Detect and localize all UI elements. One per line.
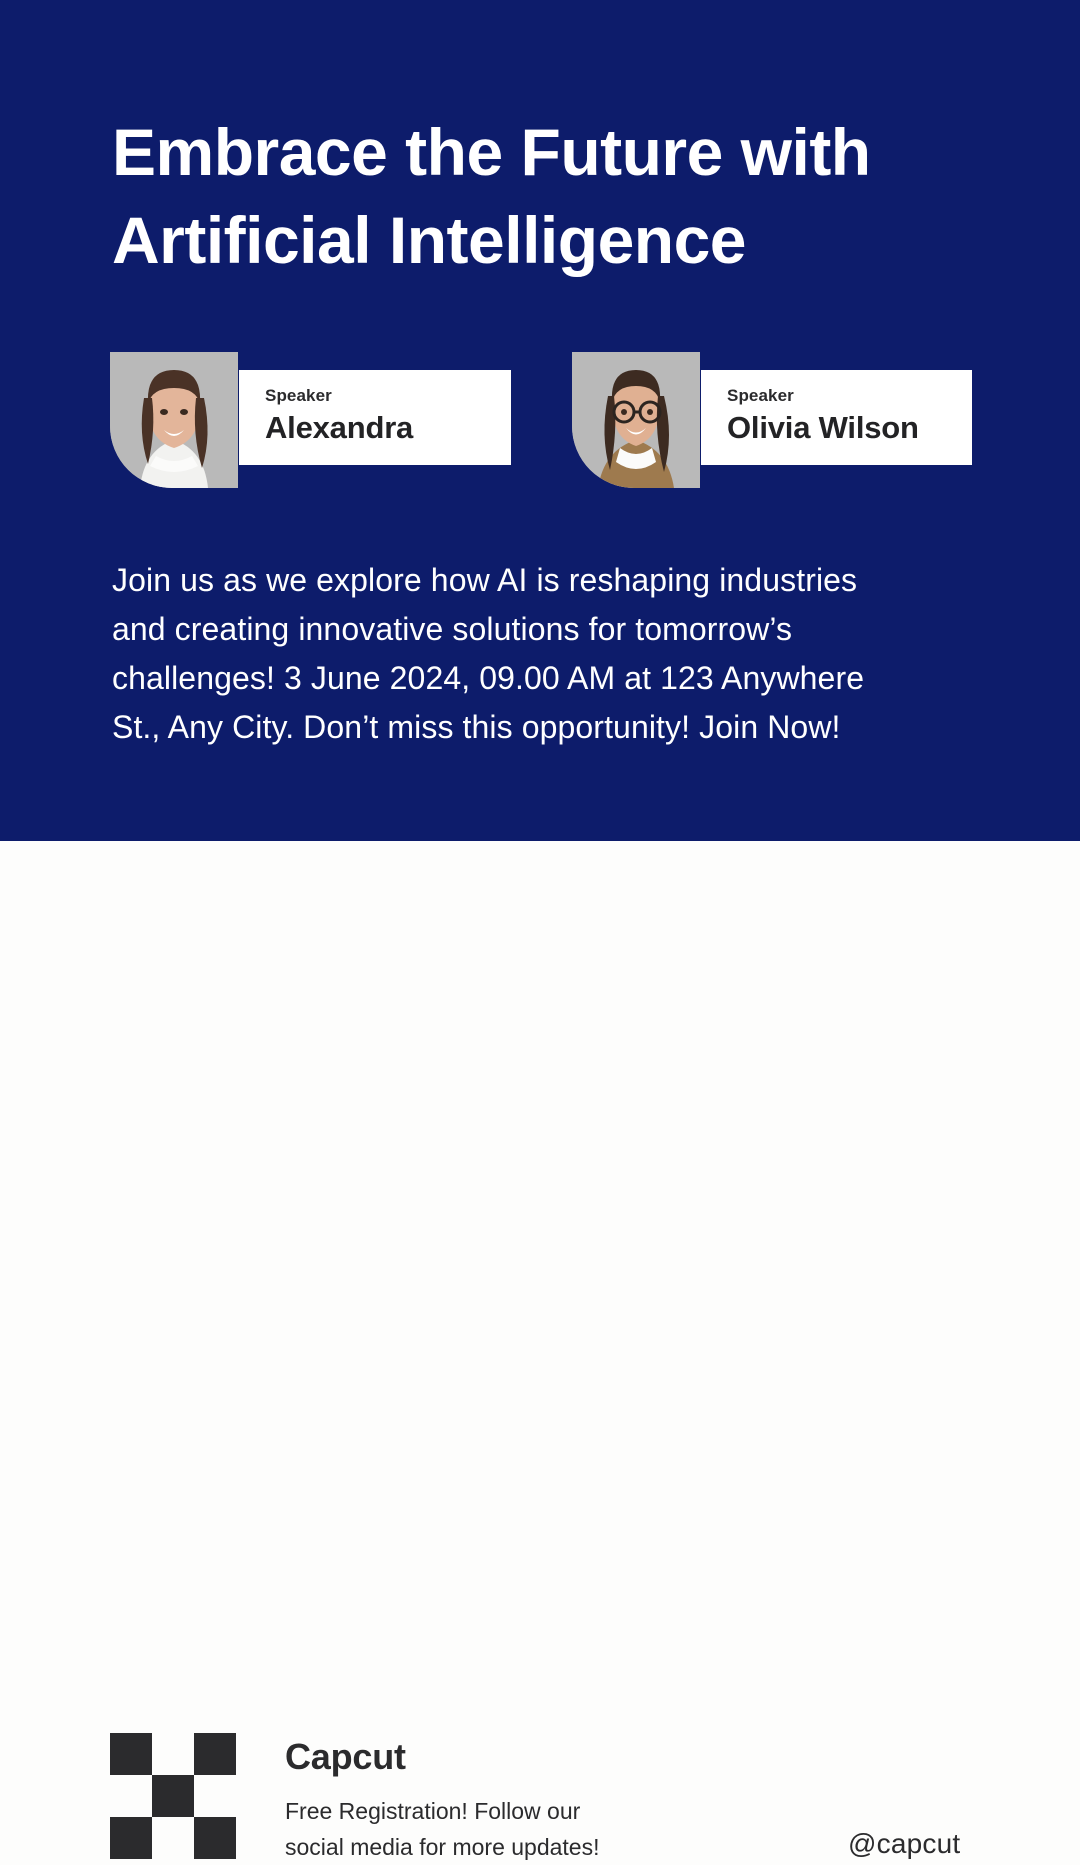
- logo-cell: [194, 1775, 236, 1817]
- logo-cell: [152, 1775, 194, 1817]
- speaker-name: Alexandra: [265, 408, 511, 448]
- footer-panel: Capcut Free Registration! Follow our soc…: [0, 841, 1080, 1080]
- speaker-namecard: Speaker Olivia Wilson: [701, 370, 972, 465]
- speaker-role-label: Speaker: [727, 386, 972, 406]
- checkerboard-logo-icon: [110, 1733, 236, 1859]
- avatar: [572, 352, 700, 488]
- event-poster: Embrace the Future with Artificial Intel…: [0, 0, 1080, 1080]
- speaker-namecard: Speaker Alexandra: [239, 370, 511, 465]
- speaker-name: Olivia Wilson: [727, 408, 972, 448]
- logo-cell: [194, 1733, 236, 1775]
- social-handle: @capcut: [848, 1827, 960, 1861]
- description-line-3: challenges! 3 June 2024, 09.00 AM at 123…: [112, 654, 992, 703]
- logo-cell: [110, 1775, 152, 1817]
- title-line-1: Embrace the Future with: [112, 108, 1012, 196]
- hero-panel: Embrace the Future with Artificial Intel…: [0, 0, 1080, 841]
- speaker-role-label: Speaker: [265, 386, 511, 406]
- speaker-list: Speaker Alexandra: [0, 352, 1080, 492]
- title-line-2: Artificial Intelligence: [112, 196, 1012, 284]
- logo-cell: [152, 1733, 194, 1775]
- logo-cell: [152, 1817, 194, 1859]
- description-line-4: St., Any City. Don’t miss this opportuni…: [112, 703, 992, 752]
- description-line-2: and creating innovative solutions for to…: [112, 605, 992, 654]
- logo-cell: [194, 1817, 236, 1859]
- description-line-1: Join us as we explore how AI is reshapin…: [112, 556, 992, 605]
- page-title: Embrace the Future with Artificial Intel…: [112, 108, 1012, 284]
- tagline-line-2: social media for more updates!: [285, 1829, 725, 1865]
- avatar: [110, 352, 238, 488]
- brand-tagline: Free Registration! Follow our social med…: [285, 1793, 725, 1865]
- logo-cell: [110, 1817, 152, 1859]
- brand-name: Capcut: [285, 1735, 406, 1779]
- event-description: Join us as we explore how AI is reshapin…: [112, 556, 992, 752]
- logo-cell: [110, 1733, 152, 1775]
- tagline-line-1: Free Registration! Follow our: [285, 1793, 725, 1829]
